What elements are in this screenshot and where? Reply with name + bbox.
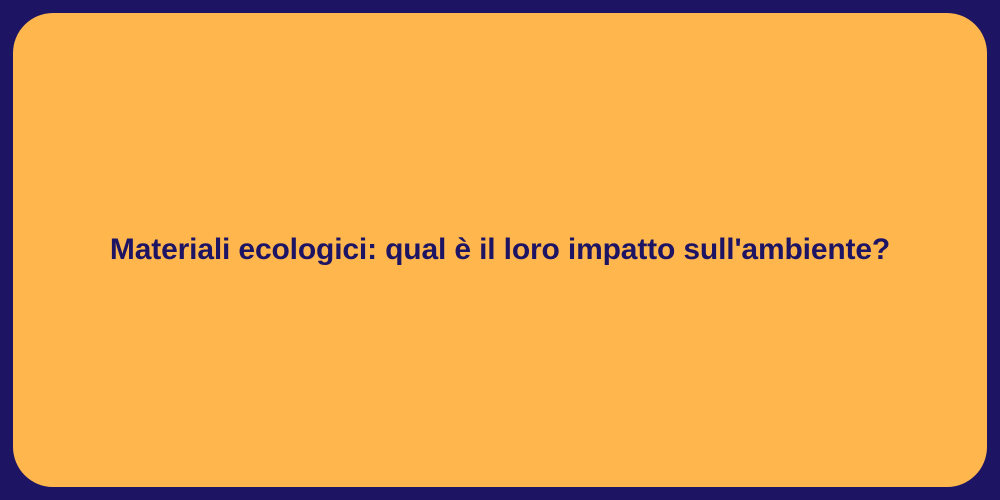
title-card: Materiali ecologici: qual è il loro impa… [0,0,1000,500]
page-title: Materiali ecologici: qual è il loro impa… [13,231,987,269]
card-panel: Materiali ecologici: qual è il loro impa… [13,13,987,487]
